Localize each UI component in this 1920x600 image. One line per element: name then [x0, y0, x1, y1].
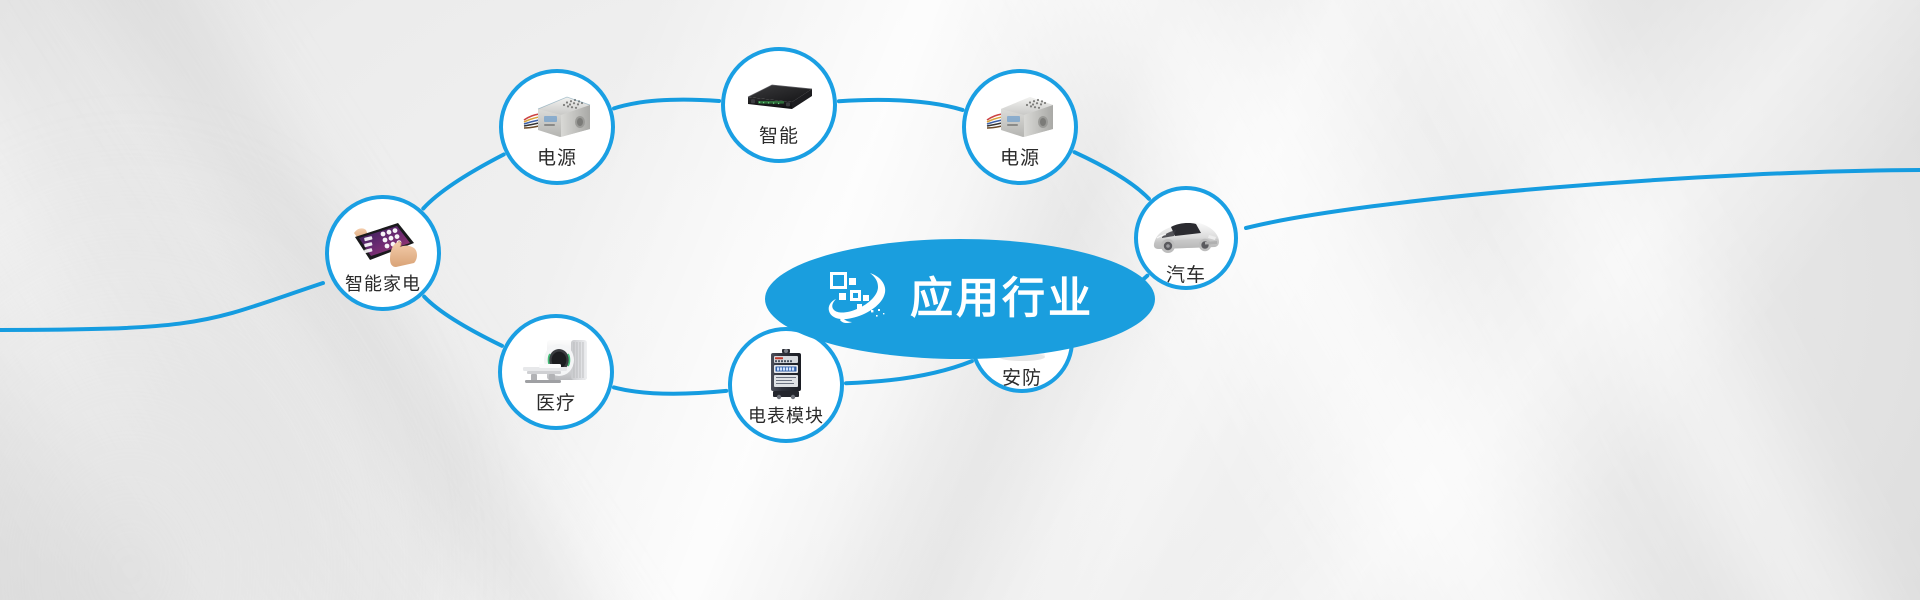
connector-link: [846, 361, 972, 383]
node-smart-appliance[interactable]: 智能家电: [325, 195, 441, 311]
meter-icon: [749, 347, 823, 403]
server-icon: [742, 67, 816, 123]
node-medical[interactable]: 医疗: [498, 314, 614, 430]
psu-icon: [983, 89, 1057, 145]
connector-link: [614, 387, 726, 393]
connector-link: [1075, 152, 1149, 199]
node-automotive[interactable]: 汽车: [1134, 186, 1238, 290]
center-badge: 应用行业: [765, 239, 1155, 359]
connector-link: [614, 100, 719, 109]
node-label: 电表模块: [748, 407, 824, 425]
node-label: 安防: [1002, 369, 1042, 388]
connector-link: [839, 100, 963, 110]
application-industries-banner: 电源: [0, 0, 1920, 600]
car-icon: [1149, 206, 1223, 262]
node-label: 电源: [537, 149, 577, 168]
node-label: 医疗: [536, 394, 576, 413]
mri-icon: [519, 334, 593, 390]
badge-title: 应用行业: [910, 278, 1094, 321]
node-label: 智能: [759, 127, 799, 146]
node-meter-module[interactable]: 电表模块: [728, 327, 844, 443]
orbit-pixel-logo: [826, 268, 896, 330]
node-power-top-left[interactable]: 电源: [499, 69, 615, 185]
connector-link: [424, 297, 502, 346]
psu-icon: [520, 89, 594, 145]
node-label: 汽车: [1166, 266, 1206, 285]
tablet-icon: [346, 215, 420, 271]
node-power-top-right[interactable]: 电源: [962, 69, 1078, 185]
node-label: 电源: [1000, 149, 1040, 168]
connector-link: [423, 155, 503, 209]
node-smart[interactable]: 智能: [721, 47, 837, 163]
node-label: 智能家电: [345, 275, 421, 293]
connector-tail: [0, 283, 323, 330]
connector-tail: [1246, 170, 1920, 228]
